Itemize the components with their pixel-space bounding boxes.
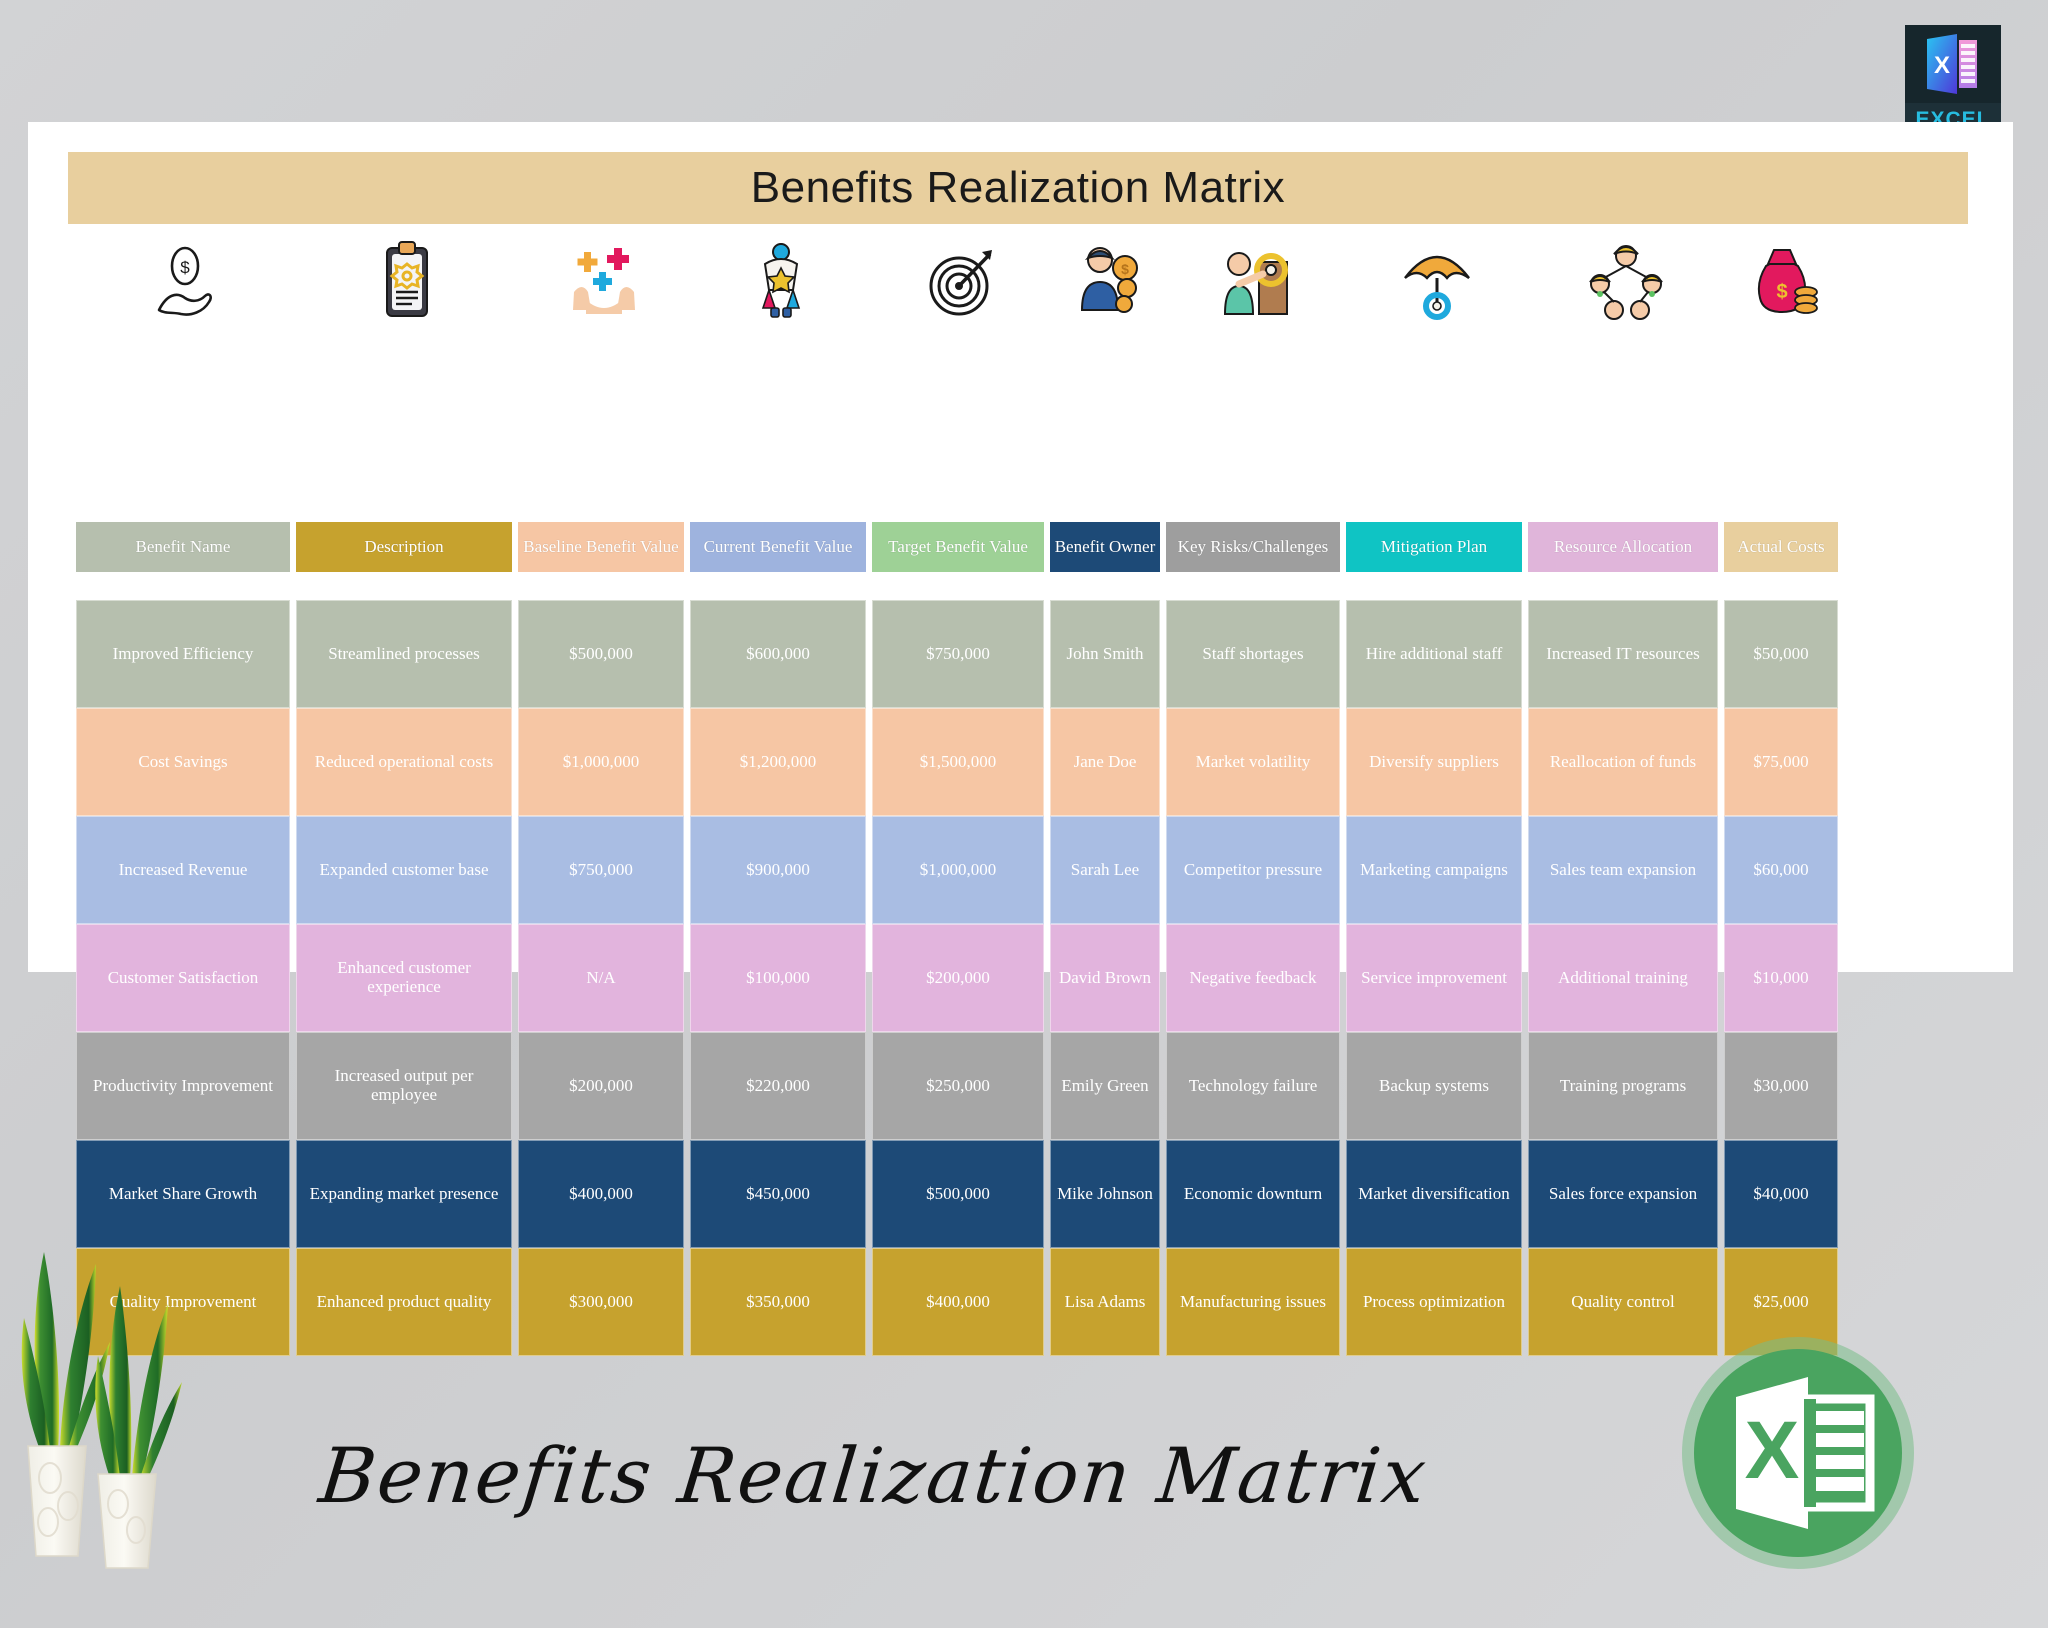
column-header-label: Description xyxy=(364,537,443,557)
table-cell[interactable]: Enhanced customer experience xyxy=(296,924,512,1032)
column-header-1[interactable]: Description xyxy=(296,522,512,572)
table-cell[interactable]: N/A xyxy=(518,924,684,1032)
clipboard-gear-icon xyxy=(296,230,518,322)
svg-text:X: X xyxy=(1934,52,1950,79)
worksheet-canvas: Benefits Realization Matrix $ xyxy=(28,122,2013,972)
table-cell[interactable]: Improved Efficiency xyxy=(76,600,290,708)
hands-plus-signs-icon xyxy=(518,230,690,322)
table-cell[interactable]: Sales team expansion xyxy=(1528,816,1718,924)
column-header-6[interactable]: Key Risks/Challenges xyxy=(1166,522,1340,572)
table-cell[interactable]: $350,000 xyxy=(690,1248,866,1356)
column-icon-row: $ xyxy=(76,230,1996,322)
table-cell[interactable]: Backup systems xyxy=(1346,1032,1522,1140)
table-cell[interactable]: Mike Johnson xyxy=(1050,1140,1160,1248)
table-cell[interactable]: $30,000 xyxy=(1724,1032,1838,1140)
table-cell[interactable]: Jane Doe xyxy=(1050,708,1160,816)
table-body: Improved EfficiencyStreamlined processes… xyxy=(76,600,1996,1356)
table-cell[interactable]: $200,000 xyxy=(518,1032,684,1140)
table-cell[interactable]: Competitor pressure xyxy=(1166,816,1340,924)
table-cell[interactable]: Increased output per employee xyxy=(296,1032,512,1140)
column-header-label: Resource Allocation xyxy=(1554,537,1692,557)
table-cell[interactable]: John Smith xyxy=(1050,600,1160,708)
table-row[interactable]: Customer SatisfactionEnhanced customer e… xyxy=(76,924,1996,1032)
target-arrow-icon xyxy=(872,230,1050,322)
team-network-icon xyxy=(1528,230,1724,322)
table-cell[interactable]: $450,000 xyxy=(690,1140,866,1248)
table-cell[interactable]: $40,000 xyxy=(1724,1140,1838,1248)
table-cell[interactable]: $750,000 xyxy=(518,816,684,924)
table-cell[interactable]: $10,000 xyxy=(1724,924,1838,1032)
column-header-2[interactable]: Baseline Benefit Value xyxy=(518,522,684,572)
table-cell[interactable]: $50,000 xyxy=(1724,600,1838,708)
column-header-label: Mitigation Plan xyxy=(1381,537,1487,557)
umbrella-gear-icon xyxy=(1346,230,1528,322)
column-header-label: Target Benefit Value xyxy=(888,537,1028,557)
table-cell[interactable]: $1,500,000 xyxy=(872,708,1044,816)
column-header-9[interactable]: Actual Costs xyxy=(1724,522,1838,572)
person-coin-owner-icon: $ xyxy=(1050,230,1166,322)
table-cell[interactable]: Lisa Adams xyxy=(1050,1248,1160,1356)
table-cell[interactable]: $300,000 xyxy=(518,1248,684,1356)
column-header-label: Benefit Owner xyxy=(1055,537,1156,557)
svg-text:$: $ xyxy=(180,258,190,277)
column-header-3[interactable]: Current Benefit Value xyxy=(690,522,866,572)
person-risk-chart-icon xyxy=(1166,230,1346,322)
table-cell[interactable]: Expanded customer base xyxy=(296,816,512,924)
table-cell[interactable]: Technology failure xyxy=(1166,1032,1340,1140)
table-cell[interactable]: Enhanced product quality xyxy=(296,1248,512,1356)
table-cell[interactable]: Cost Savings xyxy=(76,708,290,816)
table-cell[interactable]: $250,000 xyxy=(872,1032,1044,1140)
snake-plant-decoration xyxy=(10,1238,280,1598)
excel-logo-icon: X xyxy=(1678,1333,1918,1573)
table-cell[interactable]: Market Share Growth xyxy=(76,1140,290,1248)
table-cell[interactable]: $200,000 xyxy=(872,924,1044,1032)
excel-logo-letter: X xyxy=(1745,1405,1800,1496)
table-cell[interactable]: $60,000 xyxy=(1724,816,1838,924)
column-header-4[interactable]: Target Benefit Value xyxy=(872,522,1044,572)
table-cell[interactable]: Market diversification xyxy=(1346,1140,1522,1248)
column-header-8[interactable]: Resource Allocation xyxy=(1528,522,1718,572)
table-row[interactable]: Improved EfficiencyStreamlined processes… xyxy=(76,600,1996,708)
table-cell[interactable]: Sarah Lee xyxy=(1050,816,1160,924)
table-cell[interactable]: $400,000 xyxy=(518,1140,684,1248)
table-header-row: Benefit NameDescriptionBaseline Benefit … xyxy=(76,522,1996,572)
table-cell[interactable]: Negative feedback xyxy=(1166,924,1340,1032)
table-cell[interactable]: Streamlined processes xyxy=(296,600,512,708)
column-header-5[interactable]: Benefit Owner xyxy=(1050,522,1160,572)
column-header-0[interactable]: Benefit Name xyxy=(76,522,290,572)
svg-text:$: $ xyxy=(1121,261,1129,277)
table-cell[interactable]: Market volatility xyxy=(1166,708,1340,816)
table-cell[interactable]: Service improvement xyxy=(1346,924,1522,1032)
table-cell[interactable]: Marketing campaigns xyxy=(1346,816,1522,924)
hand-holding-coin-icon: $ xyxy=(76,230,296,322)
table-row[interactable]: Cost SavingsReduced operational costs$1,… xyxy=(76,708,1996,816)
money-bag-coins-icon: $ xyxy=(1724,230,1844,322)
table-row[interactable]: Market Share GrowthExpanding market pres… xyxy=(76,1140,1996,1248)
table-cell[interactable]: Sales force expansion xyxy=(1528,1140,1718,1248)
column-header-label: Benefit Name xyxy=(136,537,231,557)
table-cell[interactable]: $750,000 xyxy=(872,600,1044,708)
column-header-label: Key Risks/Challenges xyxy=(1178,537,1329,557)
table-cell[interactable]: $220,000 xyxy=(690,1032,866,1140)
table-cell[interactable]: $900,000 xyxy=(690,816,866,924)
table-cell[interactable]: Staff shortages xyxy=(1166,600,1340,708)
table-cell[interactable]: Expanding market presence xyxy=(296,1140,512,1248)
matrix-title-band: Benefits Realization Matrix xyxy=(68,152,1968,224)
table-cell[interactable]: $100,000 xyxy=(690,924,866,1032)
table-cell[interactable]: $400,000 xyxy=(872,1248,1044,1356)
table-row[interactable]: Productivity ImprovementIncreased output… xyxy=(76,1032,1996,1140)
table-cell[interactable]: Reduced operational costs xyxy=(296,708,512,816)
table-cell[interactable]: $1,000,000 xyxy=(518,708,684,816)
table-cell[interactable]: Customer Satisfaction xyxy=(76,924,290,1032)
trophy-star-person-icon xyxy=(690,230,872,322)
table-cell[interactable]: Increased Revenue xyxy=(76,816,290,924)
table-cell[interactable]: Hire additional staff xyxy=(1346,600,1522,708)
footer-script-title: Benefits Realization Matrix xyxy=(315,1431,1432,1520)
column-header-7[interactable]: Mitigation Plan xyxy=(1346,522,1522,572)
table-cell[interactable]: $1,200,000 xyxy=(690,708,866,816)
table-cell[interactable]: Increased IT resources xyxy=(1528,600,1718,708)
table-cell[interactable]: Training programs xyxy=(1528,1032,1718,1140)
table-row[interactable]: Increased RevenueExpanded customer base$… xyxy=(76,816,1996,924)
table-cell[interactable]: Economic downturn xyxy=(1166,1140,1340,1248)
table-cell[interactable]: Manufacturing issues xyxy=(1166,1248,1340,1356)
table-cell[interactable]: Emily Green xyxy=(1050,1032,1160,1140)
column-header-label: Current Benefit Value xyxy=(704,537,853,557)
table-cell[interactable]: Additional training xyxy=(1528,924,1718,1032)
table-cell[interactable]: $1,000,000 xyxy=(872,816,1044,924)
excel-app-icon: X xyxy=(1905,25,2001,103)
table-cell[interactable]: $500,000 xyxy=(518,600,684,708)
page-title: Benefits Realization Matrix xyxy=(751,163,1285,213)
table-cell[interactable]: $600,000 xyxy=(690,600,866,708)
table-cell[interactable]: David Brown xyxy=(1050,924,1160,1032)
table-cell[interactable]: $500,000 xyxy=(872,1140,1044,1248)
svg-text:$: $ xyxy=(1776,281,1787,303)
column-header-label: Baseline Benefit Value xyxy=(523,537,678,557)
column-header-label: Actual Costs xyxy=(1737,537,1824,557)
table-cell[interactable]: Reallocation of funds xyxy=(1528,708,1718,816)
table-cell[interactable]: Productivity Improvement xyxy=(76,1032,290,1140)
excel-app-badge[interactable]: X EXCEL xyxy=(1905,25,2001,137)
table-cell[interactable]: Diversify suppliers xyxy=(1346,708,1522,816)
table-cell[interactable]: $75,000 xyxy=(1724,708,1838,816)
table-cell[interactable]: Process optimization xyxy=(1346,1248,1522,1356)
